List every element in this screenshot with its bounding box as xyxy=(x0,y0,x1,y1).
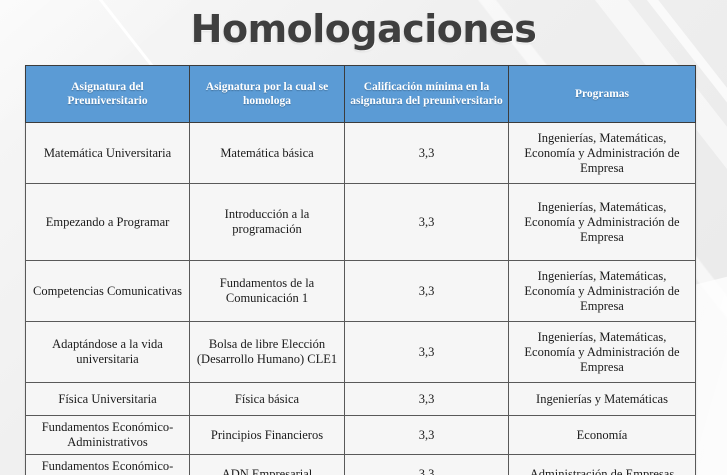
column-header-asignatura-preuniversitario: Asignatura del Preuniversitario xyxy=(26,66,190,123)
column-header-programas: Programas xyxy=(509,66,696,123)
cell-calificacion-minima: 3,3 xyxy=(345,261,509,322)
cell-programas: Ingenierías, Matemáticas, Economía y Adm… xyxy=(509,123,696,184)
cell-calificacion-minima: 3,3 xyxy=(345,383,509,416)
cell-asignatura-homologa: Principios Financieros xyxy=(190,416,345,455)
table-row: Física UniversitariaFísica básica3,3Inge… xyxy=(26,383,696,416)
page-title: Homologaciones xyxy=(0,6,727,52)
cell-asignatura-homologa: Fundamentos de la Comunicación 1 xyxy=(190,261,345,322)
cell-programas: Ingenierías y Matemáticas xyxy=(509,383,696,416)
cell-asignatura-homologa: Física básica xyxy=(190,383,345,416)
cell-calificacion-minima: 3,3 xyxy=(345,322,509,383)
cell-asignatura-preuniversitario: Matemática Universitaria xyxy=(26,123,190,184)
cell-asignatura-preuniversitario: Competencias Comunicativas xyxy=(26,261,190,322)
homologaciones-table: Asignatura del Preuniversitario Asignatu… xyxy=(25,65,696,475)
table-row: Competencias ComunicativasFundamentos de… xyxy=(26,261,696,322)
column-header-asignatura-homologa: Asignatura por la cual se homologa xyxy=(190,66,345,123)
cell-calificacion-minima: 3,3 xyxy=(345,455,509,475)
cell-programas: Ingenierías, Matemáticas, Economía y Adm… xyxy=(509,261,696,322)
cell-calificacion-minima: 3,3 xyxy=(345,184,509,261)
table-header-row: Asignatura del Preuniversitario Asignatu… xyxy=(26,66,696,123)
cell-asignatura-preuniversitario: Adaptándose a la vida universitaria xyxy=(26,322,190,383)
cell-asignatura-homologa: ADN Empresarial xyxy=(190,455,345,475)
cell-asignatura-preuniversitario: Empezando a Programar xyxy=(26,184,190,261)
table-body: Matemática UniversitariaMatemática básic… xyxy=(26,123,696,475)
cell-programas: Ingenierías, Matemáticas, Economía y Adm… xyxy=(509,322,696,383)
cell-asignatura-preuniversitario: Fundamentos Económico-Administrativos xyxy=(26,455,190,475)
table-row: Empezando a ProgramarIntroducción a la p… xyxy=(26,184,696,261)
cell-asignatura-homologa: Bolsa de libre Elección (Desarrollo Huma… xyxy=(190,322,345,383)
cell-asignatura-preuniversitario: Física Universitaria xyxy=(26,383,190,416)
table-row: Adaptándose a la vida universitariaBolsa… xyxy=(26,322,696,383)
table-header: Asignatura del Preuniversitario Asignatu… xyxy=(26,66,696,123)
cell-asignatura-preuniversitario: Fundamentos Económico-Administrativos xyxy=(26,416,190,455)
cell-programas: Ingenierías, Matemáticas, Economía y Adm… xyxy=(509,184,696,261)
cell-calificacion-minima: 3,3 xyxy=(345,416,509,455)
column-header-calificacion-minima: Calificación mínima en la asignatura del… xyxy=(345,66,509,123)
cell-programas: Administración de Empresas xyxy=(509,455,696,475)
cell-asignatura-homologa: Matemática básica xyxy=(190,123,345,184)
cell-asignatura-homologa: Introducción a la programación xyxy=(190,184,345,261)
table-row: Fundamentos Económico-AdministrativosADN… xyxy=(26,455,696,475)
slide-canvas: Homologaciones Asignatura del Preunivers… xyxy=(0,0,727,475)
table-row: Matemática UniversitariaMatemática básic… xyxy=(26,123,696,184)
cell-calificacion-minima: 3,3 xyxy=(345,123,509,184)
table-row: Fundamentos Económico-AdministrativosPri… xyxy=(26,416,696,455)
cell-programas: Economía xyxy=(509,416,696,455)
